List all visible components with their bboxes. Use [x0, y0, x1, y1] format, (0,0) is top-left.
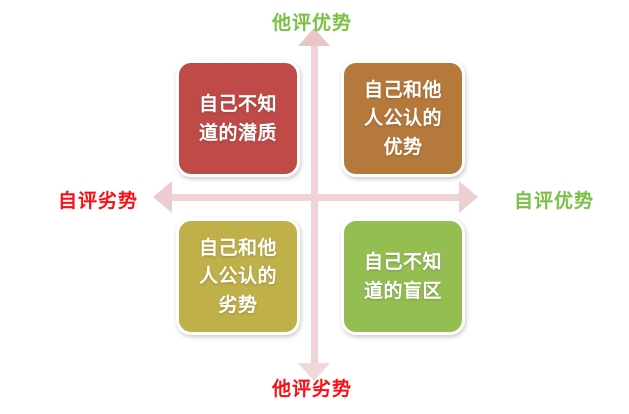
axis-label-bottom: 他评劣势 [272, 374, 352, 401]
horizontal-axis-line [172, 194, 460, 201]
diagram-canvas: 他评优势 他评劣势 自评劣势 自评优势 自己不知道的潜质 自己和他人公认的优势 … [0, 0, 629, 414]
quadrant-top-left-label: 自己不知道的潜质 [197, 90, 280, 146]
axis-label-left: 自评劣势 [58, 186, 138, 213]
quadrant-bottom-right: 自己不知道的盲区 [341, 218, 465, 335]
arrow-left-icon [153, 181, 172, 213]
arrow-right-icon [459, 181, 478, 213]
quadrant-top-right-label: 自己和他人公认的优势 [362, 76, 445, 160]
quadrant-top-right: 自己和他人公认的优势 [341, 60, 465, 177]
quadrant-top-left: 自己不知道的潜质 [176, 60, 300, 177]
quadrant-bottom-left: 自己和他人公认的劣势 [176, 218, 300, 335]
axis-label-right: 自评优势 [514, 186, 594, 213]
vertical-axis-line [311, 44, 318, 364]
quadrant-bottom-left-label: 自己和他人公认的劣势 [197, 234, 280, 318]
axis-label-top: 他评优势 [272, 8, 352, 35]
quadrant-bottom-right-label: 自己不知道的盲区 [362, 248, 445, 304]
